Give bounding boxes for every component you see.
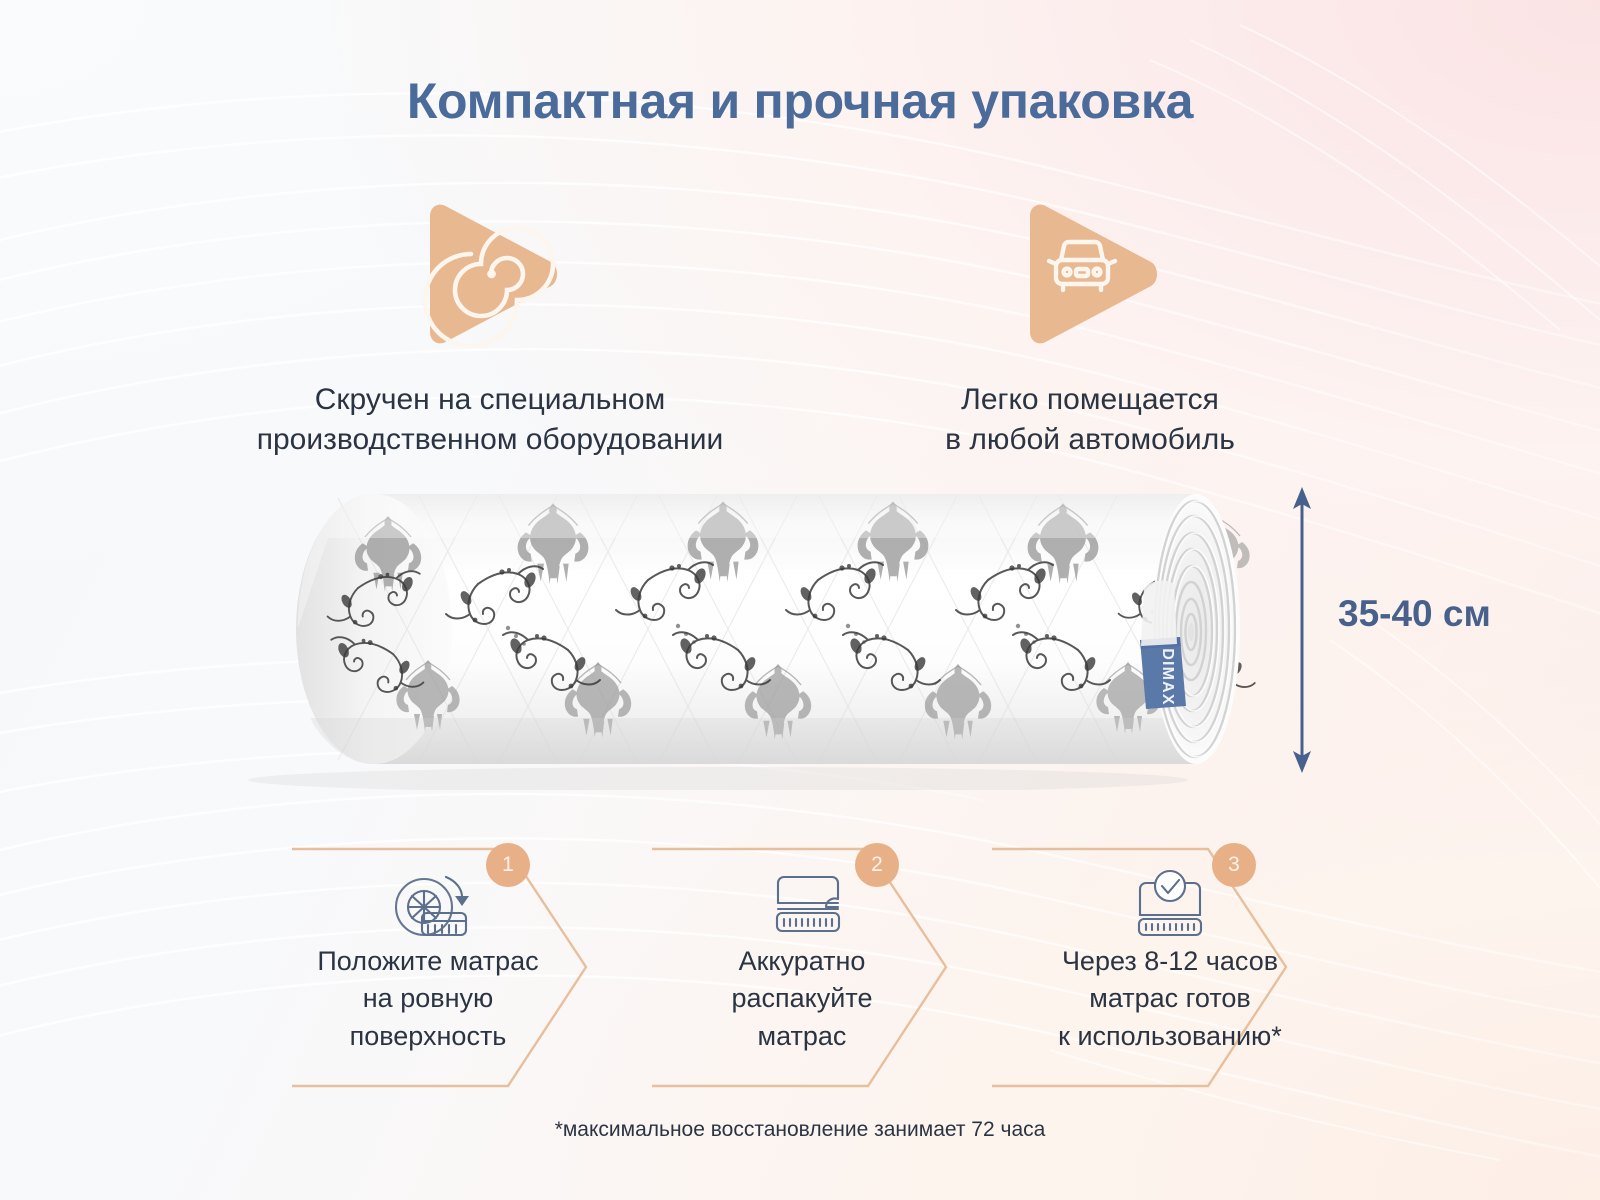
feature-icon-triangle-1	[405, 190, 575, 358]
step-card-3[interactable]: 3 Через 8-12 часов матрас готов к исполь…	[990, 845, 1390, 1090]
mattress-unwrap-icon	[768, 869, 848, 939]
rolled-mattress-illustration: DIMAX	[178, 468, 1298, 790]
step-text-1: Положите матрас на ровную поверхность	[228, 943, 628, 1055]
footnote: *максимальное восстановление занимает 72…	[0, 1118, 1600, 1142]
feature-icon-triangle-2	[1005, 190, 1175, 358]
step-icon-wrap-2	[608, 869, 1008, 944]
brand-tag: DIMAX	[1140, 637, 1186, 709]
step-icon-wrap-1	[235, 869, 635, 952]
feature-block-car: Легко помещается в любой автомобиль	[790, 190, 1390, 460]
product-rolled-mattress: DIMAX	[178, 468, 1298, 790]
dimension-label: 35-40 см	[1338, 593, 1491, 635]
double-headed-vertical-arrow-icon	[1280, 485, 1340, 775]
feature-block-rolled: Скручен на специальном производственном …	[180, 190, 800, 460]
infographic-canvas: Компактная и прочная упаковка Скручен на…	[0, 0, 1600, 1200]
car-front-icon	[1005, 190, 1175, 358]
dimension-annotation: 35-40 см	[1280, 485, 1570, 775]
step-icon-wrap-3	[970, 869, 1370, 948]
steps-row: 1 Положите матрас на ровную поверхно	[290, 845, 1330, 1090]
brand-tag-text: DIMAX	[1159, 648, 1176, 706]
mattress-check-icon	[1130, 869, 1210, 943]
feature-caption-2: Легко помещается в любой автомобиль	[790, 380, 1390, 460]
step-text-2: Аккуратно распакуйте матрас	[602, 943, 1002, 1055]
feature-caption-1: Скручен на специальном производственном …	[180, 380, 800, 460]
rolled-mattress-tape-measure-icon	[394, 869, 476, 947]
spiral-roll-icon	[405, 190, 575, 358]
page-title: Компактная и прочная упаковка	[0, 72, 1600, 130]
step-text-3: Через 8-12 часов матрас готов к использо…	[970, 943, 1370, 1055]
